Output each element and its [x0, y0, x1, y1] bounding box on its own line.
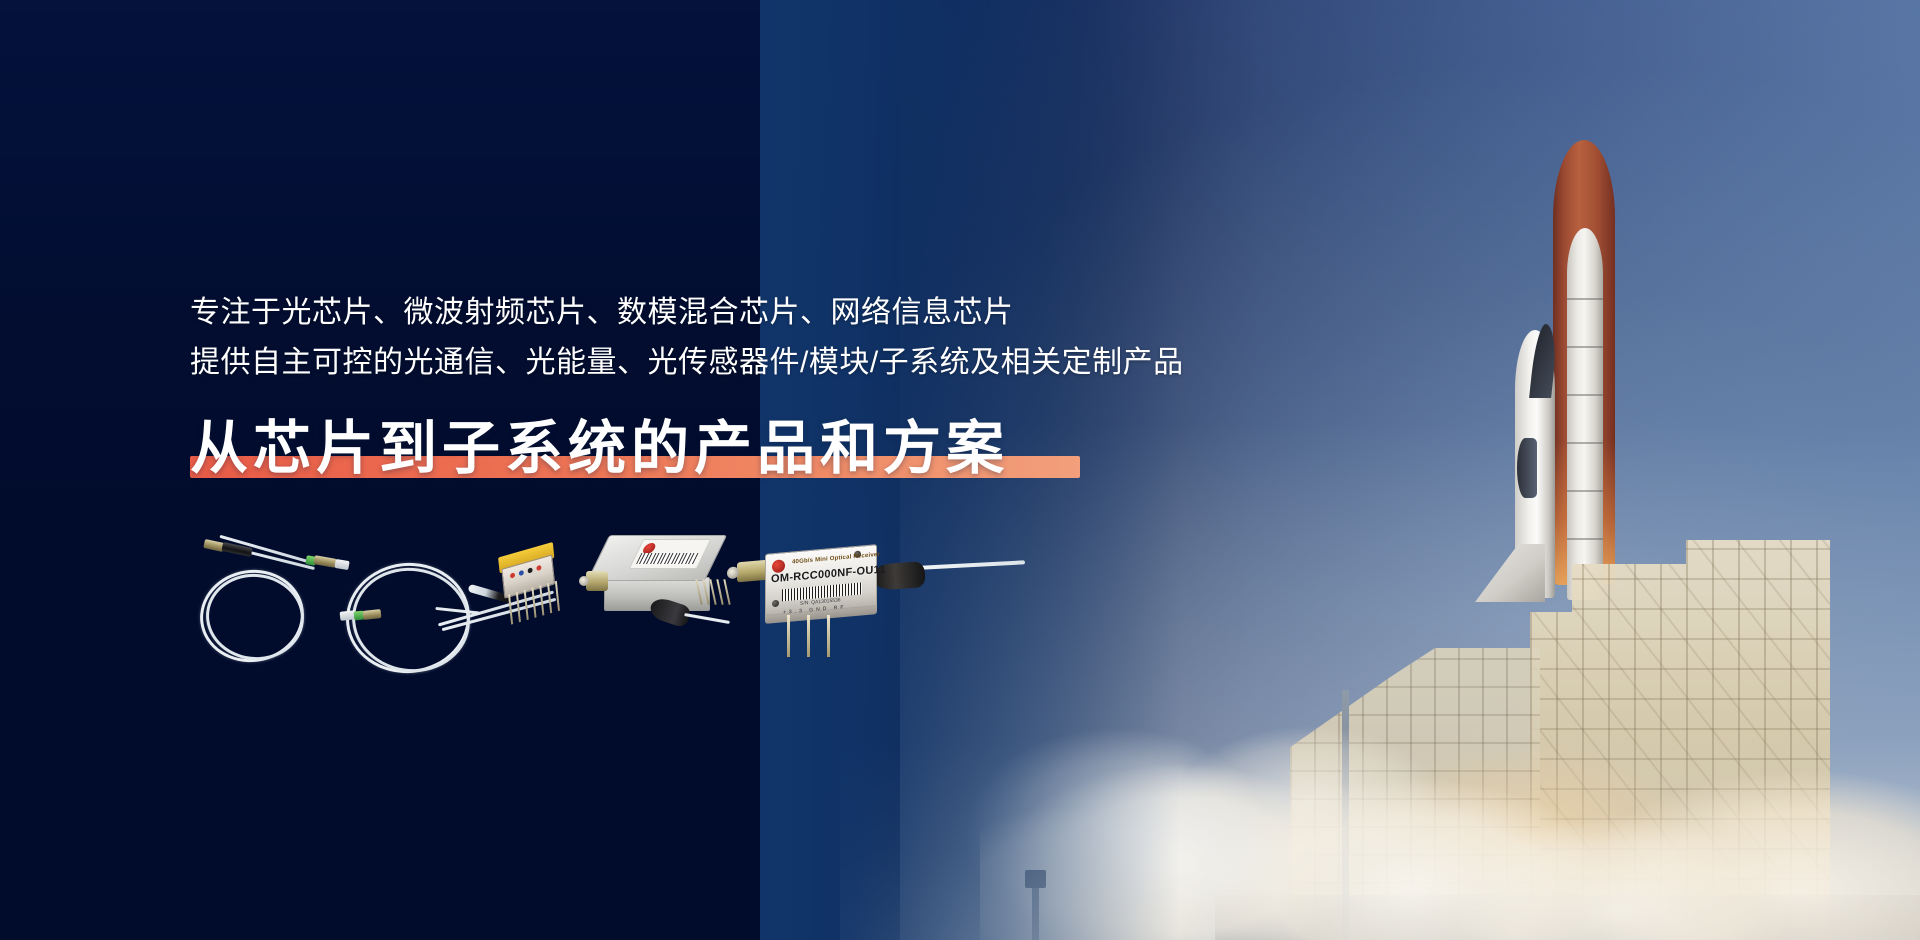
space-shuttle-icon [1455, 140, 1655, 610]
fiber-connector-body [313, 555, 336, 568]
fiber-connector-ferrule [363, 609, 382, 620]
receiver-label-title: 40Gb/s Mini Optical Receiver [792, 552, 880, 566]
receiver-fiber-lead [921, 560, 1025, 569]
product-fiber-pigtail-coil-assembly [190, 530, 350, 670]
orbiter-nose [1517, 438, 1537, 498]
product-mini-optical-receiver: 40Gb/s Mini Optical Receiver OM-RCC000NF… [735, 535, 1025, 665]
banner-subtitle-line-1: 专注于光芯片、微波射频芯片、数模混合芯片、网络信息芯片 [190, 288, 1290, 338]
product-rf-optical-module-box [580, 527, 730, 647]
receiver-screw-icon [772, 600, 779, 608]
receiver-pins [787, 615, 843, 661]
receiver-label-part-number: OM-RCC000NF-OU11 [771, 563, 886, 585]
hero-banner: 专注于光芯片、微波射频芯片、数模混合芯片、网络信息芯片 提供自主可控的光通信、光… [0, 0, 1920, 940]
orbiter-icon [1507, 330, 1565, 598]
banner-headline: 从芯片到子系统的产品和方案 [190, 412, 1009, 486]
banner-copy: 专注于光芯片、微波射频芯片、数模混合芯片、网络信息芯片 提供自主可控的光通信、光… [190, 288, 1290, 486]
brand-logo-icon [772, 559, 785, 573]
receiver-label-face: 40Gb/s Mini Optical Receiver OM-RCC000NF… [765, 544, 877, 616]
banner-subtitle-line-2: 提供自主可控的光通信、光能量、光传感器件/模块/子系统及相关定制产品 [190, 338, 1290, 388]
solid-rocket-booster-icon [1567, 228, 1603, 600]
product-image-strip: 40Gb/s Mini Optical Receiver OM-RCC000NF… [190, 525, 1030, 685]
sma-connector-icon [586, 571, 608, 591]
module-pins [698, 579, 732, 609]
barcode-icon [636, 553, 699, 564]
banner-headline-wrap: 从芯片到子系统的产品和方案 [190, 412, 1009, 486]
module-fiber-lead [684, 613, 730, 624]
product-butterfly-laser-package [484, 529, 586, 658]
